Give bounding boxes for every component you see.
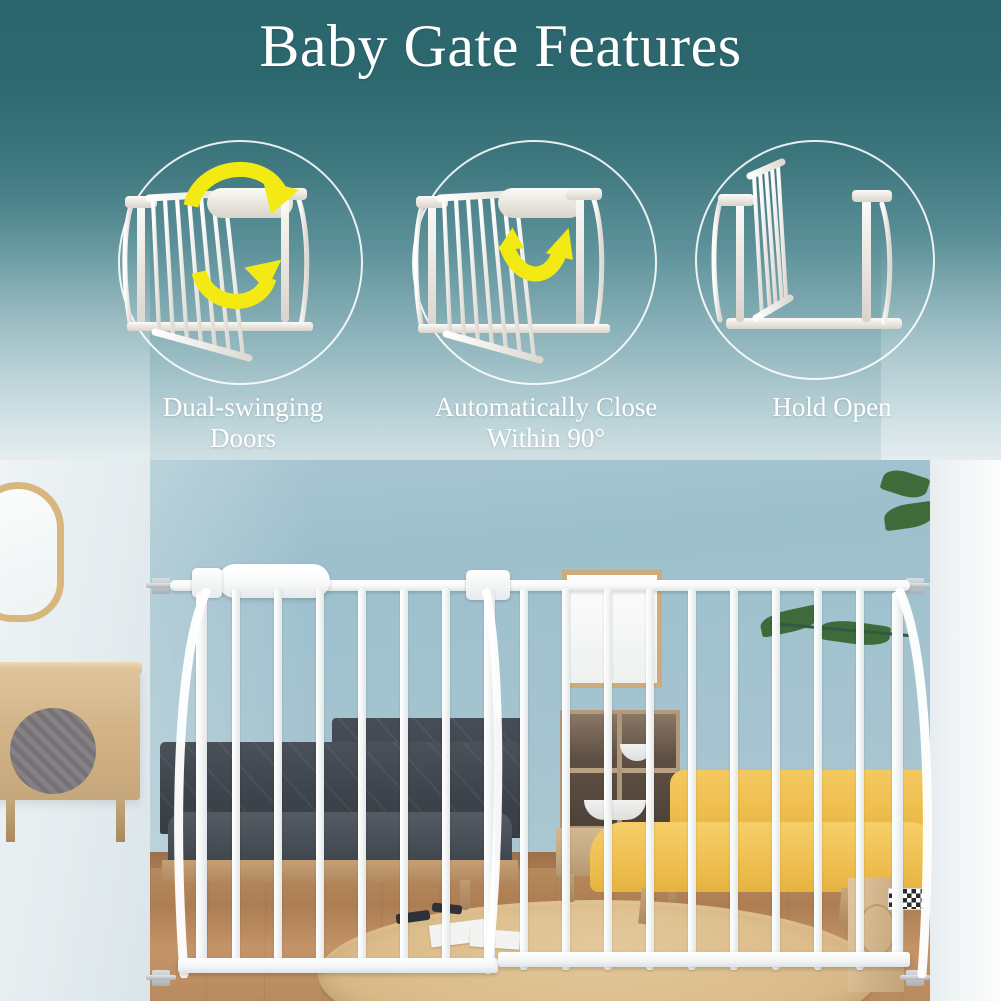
feature-caption: Automatically Close Within 90° bbox=[396, 392, 696, 454]
feature-item-dual-swinging-doors: Dual-swinging Doors bbox=[103, 132, 403, 452]
feature-caption-line1: Dual-swinging bbox=[93, 392, 393, 423]
feature-list: Dual-swinging Doors bbox=[0, 132, 1001, 452]
feature-caption-line2: Doors bbox=[93, 423, 393, 454]
gate-dual-swing-illustration bbox=[103, 132, 403, 402]
wooden-cabinet bbox=[0, 668, 140, 868]
page-title: Baby Gate Features bbox=[0, 10, 1001, 82]
cabinet-circle-panel bbox=[10, 708, 96, 794]
feature-caption-line1: Automatically Close bbox=[396, 392, 696, 423]
arch-mirror bbox=[0, 482, 64, 622]
cabinet-leg bbox=[116, 798, 125, 842]
room-photo bbox=[0, 460, 1001, 1001]
gate-auto-close-illustration bbox=[400, 132, 700, 402]
feature-item-automatically-close: Automatically Close Within 90° bbox=[400, 132, 700, 452]
feature-caption-line1: Hold Open bbox=[682, 392, 982, 423]
dark-grey-sofa bbox=[160, 742, 520, 902]
cabinet-leg bbox=[6, 798, 15, 842]
right-wall bbox=[930, 460, 1001, 1001]
feature-caption: Hold Open bbox=[682, 392, 982, 423]
shelf-leg bbox=[566, 874, 574, 902]
gate-hold-open-illustration bbox=[690, 132, 990, 402]
sofa-base bbox=[162, 860, 518, 882]
picture-frame bbox=[562, 570, 662, 688]
feature-caption-line2: Within 90° bbox=[396, 423, 696, 454]
post-grain bbox=[858, 904, 896, 956]
magazine bbox=[469, 928, 520, 949]
checker-label bbox=[888, 888, 926, 910]
feature-caption: Dual-swinging Doors bbox=[93, 392, 393, 454]
sofa-leg bbox=[196, 880, 206, 910]
infographic-page: Baby Gate Features bbox=[0, 0, 1001, 1001]
feature-item-hold-open: Hold Open bbox=[690, 132, 990, 452]
yellow-sofa-leg bbox=[638, 888, 651, 925]
